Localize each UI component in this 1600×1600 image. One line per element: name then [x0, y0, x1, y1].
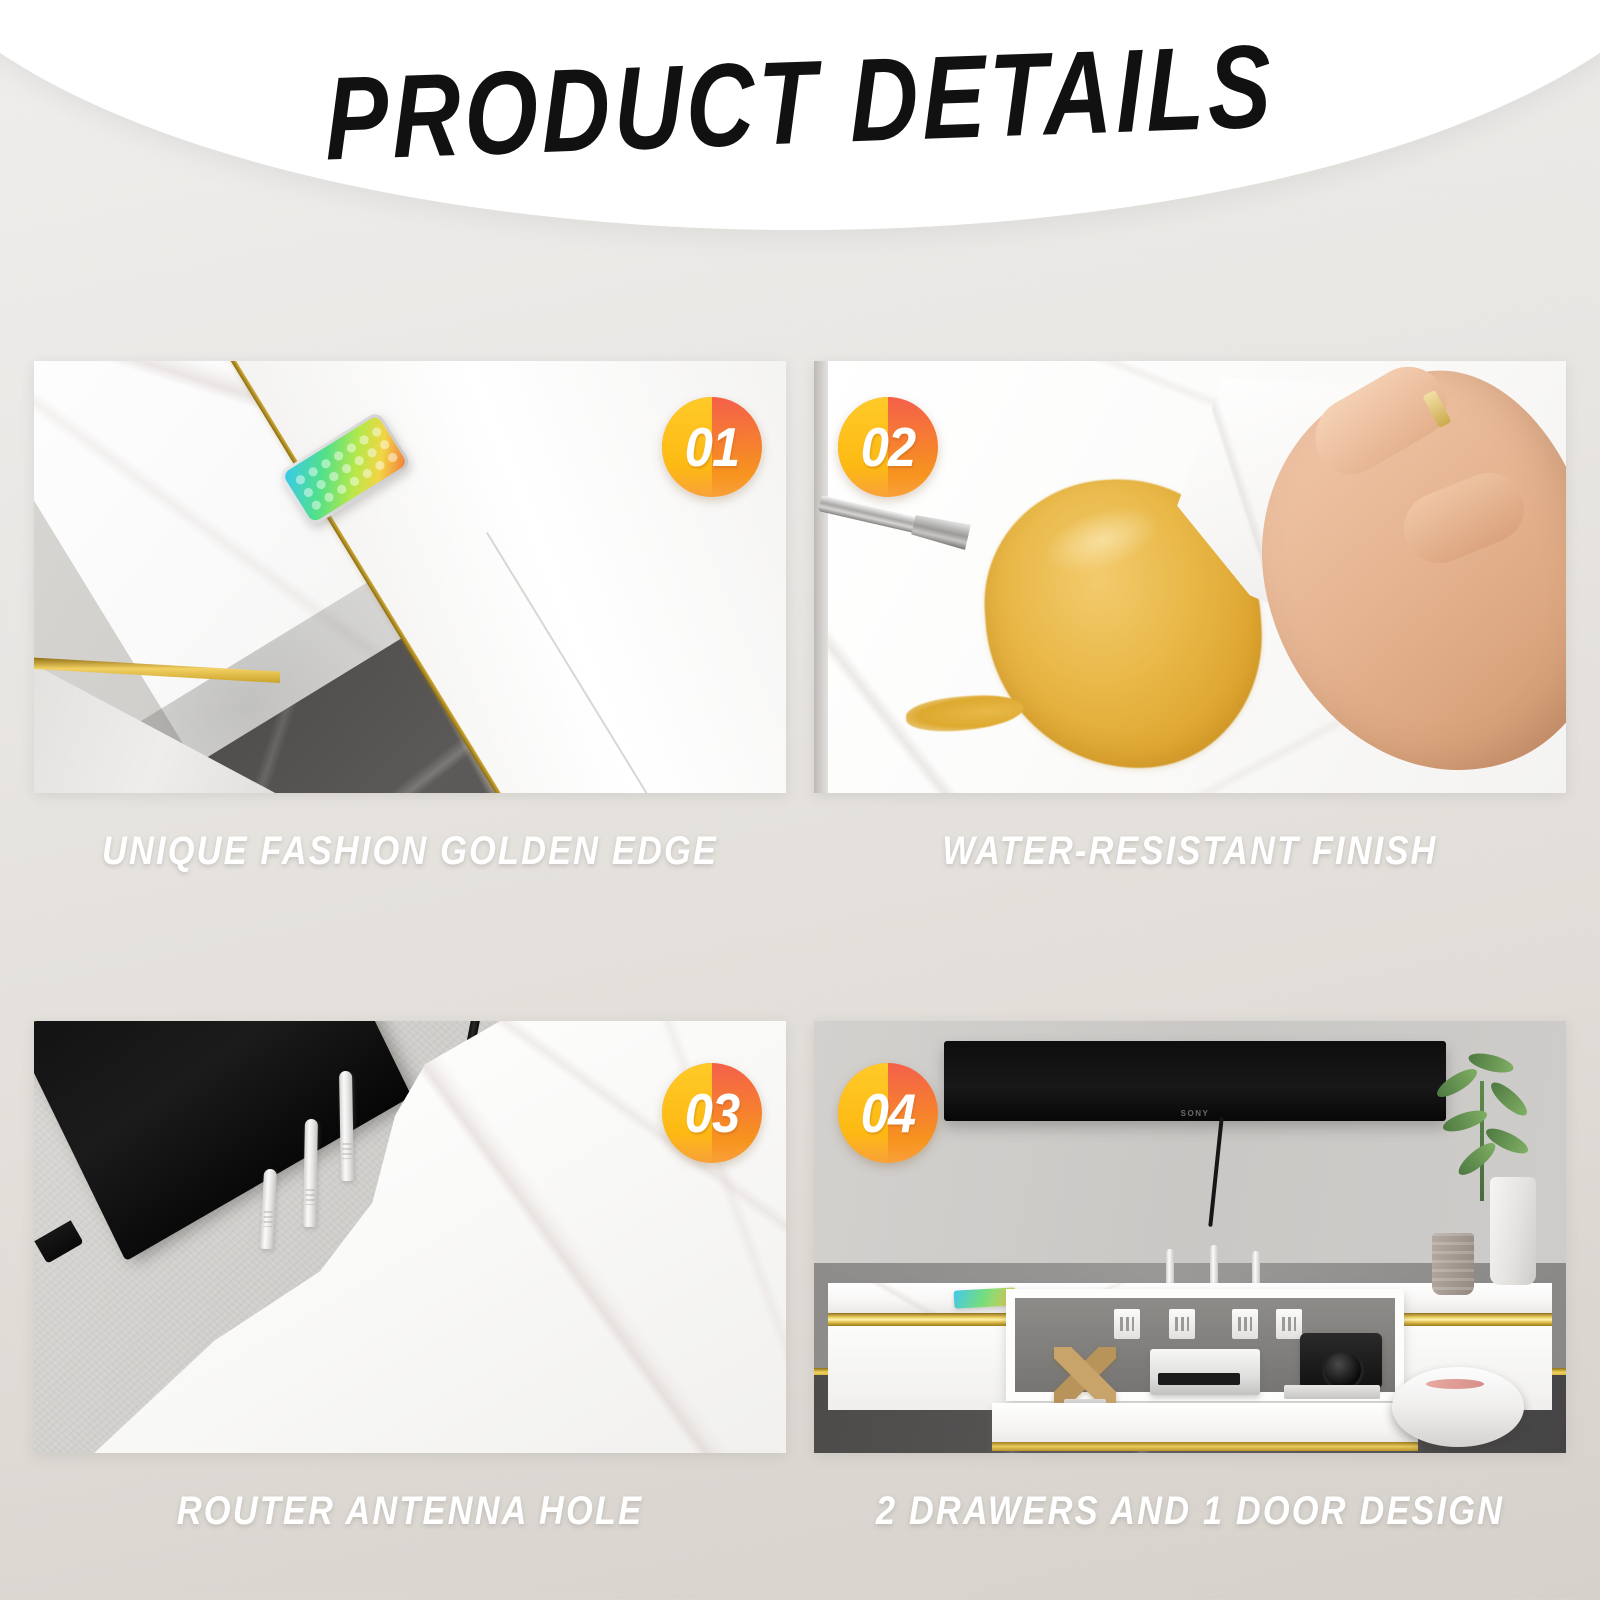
grey-vase: [1432, 1233, 1474, 1295]
camera: [1300, 1333, 1382, 1389]
step-badge-02: 02: [838, 397, 938, 497]
detail-panel-03: 03 ROUTER ANTENNA HOLE: [34, 1021, 786, 1534]
badge-number: 02: [842, 397, 934, 497]
drop-down-door: [992, 1403, 1418, 1451]
white-vase: [1490, 1177, 1536, 1285]
wall-mounted-tv: SONY: [944, 1041, 1446, 1121]
badge-number: 04: [842, 1063, 934, 1163]
panel-caption-02: WATER-RESISTANT FINISH: [867, 829, 1514, 874]
plant-leaf: [1433, 1064, 1480, 1102]
panel-caption-04: 2 DRAWERS AND 1 DOOR DESIGN: [867, 1489, 1514, 1534]
badge-number: 03: [666, 1063, 758, 1163]
photo-drawers-and-door: SONY: [814, 1021, 1566, 1453]
step-badge-03: 03: [662, 1063, 762, 1163]
details-grid: 01 UNIQUE FASHION GOLDEN EDGE 02 WATER-R…: [34, 361, 1566, 1534]
power-outlet: [1114, 1309, 1140, 1339]
robot-vacuum: [1392, 1367, 1524, 1447]
router-antenna: [303, 1119, 318, 1227]
plant-leaf: [1454, 1138, 1500, 1180]
photo-golden-edge: 01: [34, 361, 786, 793]
power-outlet: [1232, 1309, 1258, 1339]
camera-stand: [1284, 1385, 1380, 1399]
router-device: [1150, 1349, 1260, 1395]
detail-panel-01: 01 UNIQUE FASHION GOLDEN EDGE: [34, 361, 786, 874]
router-antenna: [339, 1071, 354, 1181]
step-badge-01: 01: [662, 397, 762, 497]
photo-water-resistant: 02: [814, 361, 1566, 793]
photo-antenna-hole: 03: [34, 1021, 786, 1453]
panel-caption-03: ROUTER ANTENNA HOLE: [87, 1489, 734, 1534]
plant-stem: [1480, 1081, 1484, 1201]
power-outlet: [1169, 1309, 1195, 1339]
plant-leaf: [1487, 1078, 1532, 1121]
badge-number: 01: [666, 397, 758, 497]
detail-panel-02: 02 WATER-RESISTANT FINISH: [814, 361, 1566, 874]
detail-panel-04: SONY: [814, 1021, 1566, 1534]
wooden-ornament: [1054, 1347, 1116, 1403]
panel-caption-01: UNIQUE FASHION GOLDEN EDGE: [87, 829, 734, 874]
step-badge-04: 04: [838, 1063, 938, 1163]
table-edge: [814, 361, 828, 793]
power-outlet: [1276, 1309, 1302, 1339]
tv-brand-label: SONY: [1181, 1109, 1210, 1118]
